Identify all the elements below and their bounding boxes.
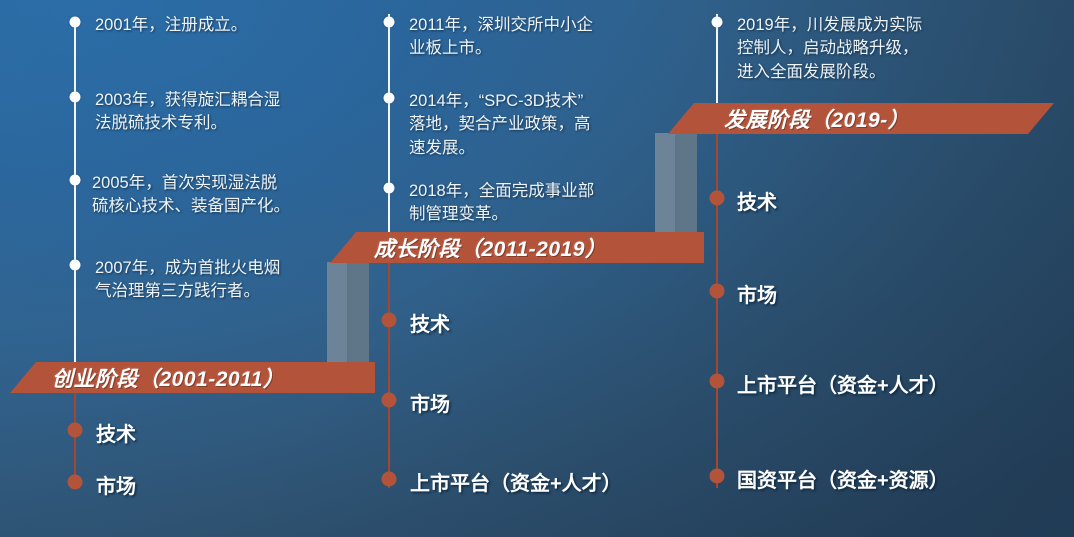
- keyword-node: [68, 475, 83, 490]
- event-text: 2011年，深圳交所中小企 业板上市。: [409, 14, 641, 61]
- stage-banner-1[interactable]: 创业阶段（2001-2011）: [10, 362, 375, 393]
- keyword-node: [382, 393, 397, 408]
- stage-keyword: 技术: [737, 186, 777, 215]
- stage-keyword: 市场: [96, 470, 136, 499]
- event-text: 2019年，川发展成为实际 控制人，启动战略升级， 进入全面发展阶段。: [737, 14, 983, 84]
- axis-line: [388, 263, 390, 488]
- stage-keyword: 技术: [96, 418, 136, 447]
- stage-keyword: 上市平台（资金+人才）: [737, 369, 949, 398]
- timeline-node: [712, 17, 723, 28]
- timeline-node: [384, 93, 395, 104]
- keyword-node: [710, 284, 725, 299]
- event-text: 2005年，首次实现湿法脱 硫核心技术、装备国产化。: [92, 172, 328, 219]
- stage-keyword: 技术: [410, 308, 450, 337]
- stage-keyword: 市场: [410, 388, 450, 417]
- stage-keyword: 市场: [737, 279, 777, 308]
- keyword-node: [710, 191, 725, 206]
- stage-keyword: 国资平台（资金+资源）: [737, 464, 949, 493]
- stage-banner-label: 发展阶段（2019-）: [724, 104, 909, 134]
- axis-line: [74, 18, 76, 368]
- event-text: 2003年，获得旋汇耦合湿 法脱硫技术专利。: [95, 89, 325, 136]
- timeline-node: [70, 260, 81, 271]
- stage-keyword: 上市平台（资金+人才）: [410, 467, 622, 496]
- axis-line: [388, 14, 390, 239]
- axis-line: [716, 14, 718, 114]
- stage-banner-2[interactable]: 成长阶段（2011-2019）: [330, 232, 704, 263]
- event-text: 2014年，“SPC-3D技术” 落地，契合产业政策，高 速发展。: [409, 90, 641, 160]
- timeline-node: [70, 175, 81, 186]
- timeline-slide: 2001年，注册成立。 2003年，获得旋汇耦合湿 法脱硫技术专利。 2005年…: [0, 0, 1074, 537]
- event-text: 2018年，全面完成事业部 制管理变革。: [409, 180, 641, 227]
- timeline-node: [384, 183, 395, 194]
- timeline-node: [70, 17, 81, 28]
- timeline-node: [384, 17, 395, 28]
- keyword-node: [382, 472, 397, 487]
- event-text: 2001年，注册成立。: [95, 14, 325, 37]
- stage-banner-label: 成长阶段（2011-2019）: [374, 233, 606, 263]
- keyword-node: [710, 469, 725, 484]
- keyword-node: [382, 313, 397, 328]
- stage-banner-3[interactable]: 发展阶段（2019-）: [668, 103, 1054, 134]
- axis-line: [716, 134, 718, 488]
- stage-banner-label: 创业阶段（2001-2011）: [52, 363, 284, 393]
- keyword-node: [68, 423, 83, 438]
- keyword-node: [710, 374, 725, 389]
- event-text: 2007年，成为首批火电烟 气治理第三方践行者。: [95, 257, 325, 304]
- timeline-node: [70, 92, 81, 103]
